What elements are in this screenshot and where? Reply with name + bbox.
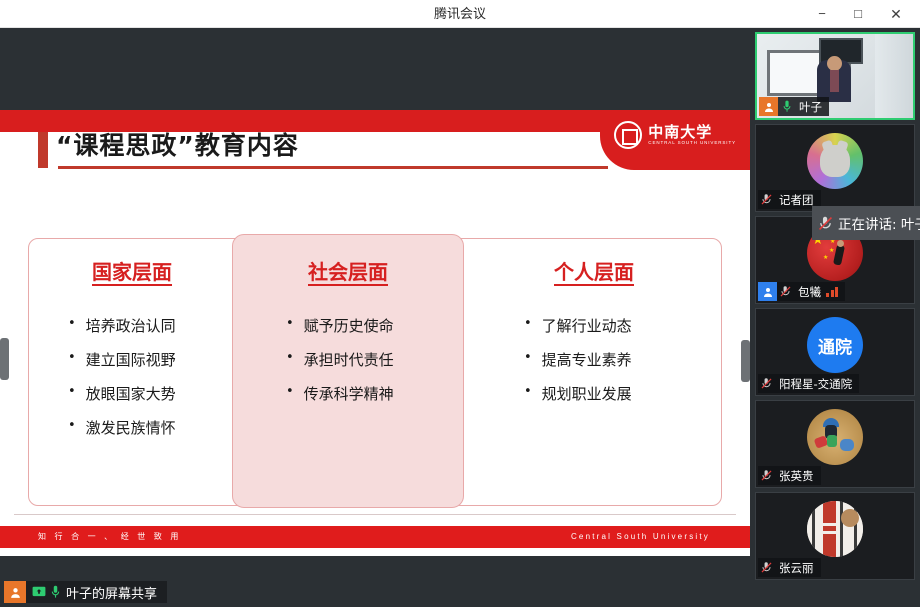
- participant-name: 包犧: [798, 284, 821, 300]
- participant-sidebar[interactable]: 叶子 记者团 ★ ★ ★ ★ ★: [750, 28, 920, 607]
- active-speaker-toast: 正在讲话: 叶子: [812, 206, 920, 240]
- list-item: •培养政治认同: [68, 315, 234, 336]
- avatar: [807, 133, 863, 189]
- presentation-slide: “课程思政”教育内容 中南大学 CENTRAL SOUTH UNIVERSITY…: [0, 110, 750, 556]
- avatar: 通院: [807, 317, 863, 373]
- slide-footer-university: Central South University: [571, 527, 710, 547]
- bullet-dot-icon: •: [524, 315, 532, 336]
- participant-name: 记者团: [779, 192, 814, 208]
- column-bullet-list: •赋予历史使命 •承担时代责任 •传承科学精神: [234, 315, 462, 404]
- close-button[interactable]: ✕: [878, 0, 914, 28]
- logo-name-en: CENTRAL SOUTH UNIVERSITY: [648, 141, 736, 146]
- column-bullet-list: •了解行业动态 •提高专业素养 •规划职业发展: [466, 315, 722, 404]
- microphone-muted-icon: [777, 282, 794, 301]
- column-bullet-list: •培养政治认同 •建立国际视野 •放眼国家大势 •激发民族情怀: [30, 315, 234, 438]
- avatar-text: 通院: [807, 317, 863, 373]
- participant-name: 张英贵: [779, 468, 814, 484]
- user-icon: [758, 282, 777, 301]
- list-item: •激发民族情怀: [68, 417, 234, 438]
- participant-name: 阳程星-交通院: [779, 376, 852, 392]
- slide-footer-divider: [14, 514, 736, 515]
- window-title: 腾讯会议: [0, 0, 920, 28]
- csu-emblem-icon: [614, 121, 642, 149]
- column-heading: 个人层面: [466, 256, 722, 285]
- microphone-muted-icon: [758, 558, 775, 577]
- left-collapse-handle[interactable]: [0, 338, 9, 380]
- slide-title-underline: [58, 166, 608, 169]
- participant-name-pill: 叶子: [759, 97, 829, 116]
- slide-title: “课程思政”教育内容: [56, 126, 299, 162]
- microphone-icon: [778, 97, 795, 116]
- participant-tile[interactable]: 叶子: [755, 32, 915, 120]
- list-item: •建立国际视野: [68, 349, 234, 370]
- bullet-dot-icon: •: [524, 383, 532, 404]
- slide-footer-motto: 知 行 合 一 、 经 世 致 用: [38, 527, 181, 547]
- participant-tile[interactable]: 张云丽: [755, 492, 915, 580]
- column-heading: 国家层面: [30, 256, 234, 285]
- bullet-dot-icon: •: [286, 349, 294, 370]
- participant-tile[interactable]: 张英贵: [755, 400, 915, 488]
- participant-name-pill: 阳程星-交通院: [758, 374, 859, 393]
- bullet-dot-icon: •: [524, 349, 532, 370]
- column-heading: 社会层面: [234, 256, 462, 285]
- participant-name: 叶子: [799, 99, 822, 115]
- slide-title-accent: [38, 132, 48, 168]
- minimize-button[interactable]: −: [804, 0, 840, 28]
- logo-name-cn: 中南大学: [648, 125, 736, 141]
- avatar: [807, 501, 863, 557]
- participant-name-pill: 张英贵: [758, 466, 821, 485]
- maximize-button[interactable]: □: [840, 0, 876, 28]
- user-icon: [759, 97, 778, 116]
- bullet-dot-icon: •: [286, 383, 294, 404]
- participant-name-pill: 张云丽: [758, 558, 821, 577]
- screen-share-label: 叶子的屏幕共享: [66, 583, 157, 602]
- microphone-muted-icon: [758, 466, 775, 485]
- microphone-icon: [48, 581, 62, 603]
- list-item: •承担时代责任: [286, 349, 462, 370]
- microphone-muted-icon: [758, 374, 775, 393]
- participant-name-pill: 包犧: [758, 282, 845, 301]
- participant-tile[interactable]: 记者团: [755, 124, 915, 212]
- list-item: •赋予历史使命: [286, 315, 462, 336]
- list-item: •传承科学精神: [286, 383, 462, 404]
- bullet-dot-icon: •: [68, 383, 76, 404]
- network-signal-icon: [826, 286, 838, 297]
- content-column-social: 社会层面 •赋予历史使命 •承担时代责任 •传承科学精神: [234, 234, 462, 508]
- content-column-national: 国家层面 •培养政治认同 •建立国际视野 •放眼国家大势 •激发民族情怀: [30, 234, 234, 508]
- university-logo: 中南大学 CENTRAL SOUTH UNIVERSITY: [614, 118, 736, 152]
- list-item: •规划职业发展: [524, 383, 722, 404]
- list-item: •了解行业动态: [524, 315, 722, 336]
- bullet-dot-icon: •: [68, 417, 76, 438]
- shared-screen-area: “课程思政”教育内容 中南大学 CENTRAL SOUTH UNIVERSITY…: [0, 28, 750, 579]
- microphone-muted-icon: [812, 214, 838, 233]
- participant-name: 张云丽: [779, 560, 814, 576]
- bullet-dot-icon: •: [68, 315, 76, 336]
- bullet-dot-icon: •: [68, 349, 76, 370]
- meeting-stage: “课程思政”教育内容 中南大学 CENTRAL SOUTH UNIVERSITY…: [0, 28, 920, 607]
- list-item: •提高专业素养: [524, 349, 722, 370]
- active-speaker-label: 正在讲话: 叶子: [838, 213, 920, 233]
- screen-share-icon: [30, 581, 48, 603]
- bullet-dot-icon: •: [286, 315, 294, 336]
- screen-share-indicator[interactable]: 叶子的屏幕共享: [4, 581, 167, 603]
- user-icon: [4, 581, 26, 603]
- microphone-muted-icon: [758, 190, 775, 209]
- content-column-individual: 个人层面 •了解行业动态 •提高专业素养 •规划职业发展: [466, 234, 722, 508]
- avatar: [807, 409, 863, 465]
- participant-tile[interactable]: 通院 阳程星-交通院: [755, 308, 915, 396]
- window-titlebar: 腾讯会议 − □ ✕: [0, 0, 920, 28]
- list-item: •放眼国家大势: [68, 383, 234, 404]
- sidebar-collapse-handle[interactable]: [741, 340, 750, 382]
